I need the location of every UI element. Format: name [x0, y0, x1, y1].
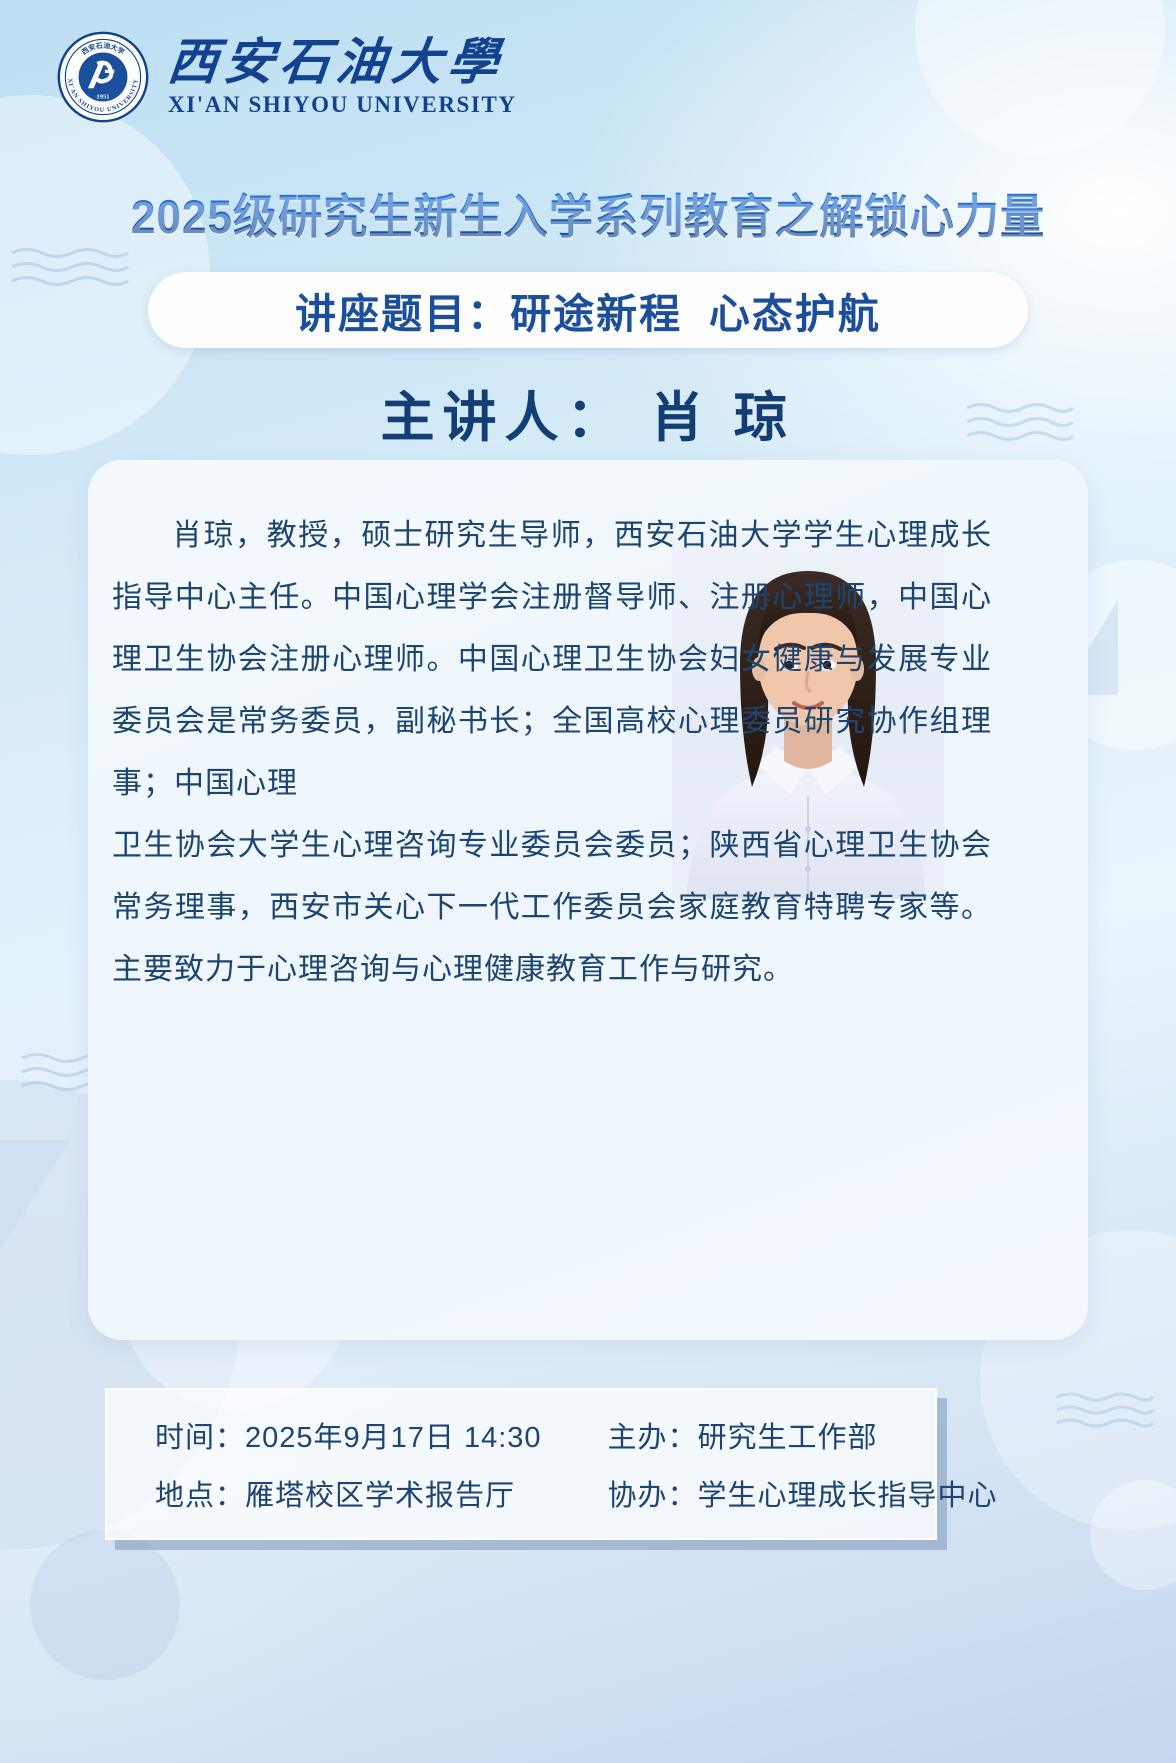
university-name-cn: 西安石油大學 — [165, 36, 519, 89]
poster-root: 1951 西安石油大学 XI'AN SHIYOU UNIVERSITY 西安石油… — [0, 0, 1176, 1763]
page-title: 2025级研究生新生入学系列教育之解锁心力量 — [35, 178, 1140, 247]
university-seal-icon: 1951 西安石油大学 XI'AN SHIYOU UNIVERSITY — [56, 30, 150, 124]
speaker-bio: 肖琼，教授，硕士研究生导师，西安石油大学学生心理成长指导中心主任。中国心理学会注… — [112, 505, 992, 1001]
svg-text:1951: 1951 — [96, 94, 109, 101]
event-details-box: 时间：2025年9月17日 14:30 地点：雁塔校区学术报告厅 主办：研究生工… — [105, 1388, 937, 1540]
wave-lines-icon — [1055, 1390, 1155, 1430]
event-cohost: 协办：学生心理成长指导中心 — [608, 1472, 998, 1514]
bio-paragraph-1: 肖琼，教授，硕士研究生导师，西安石油大学学生心理成长指导中心主任。中国心理学会注… — [112, 505, 992, 815]
lecture-title-text: 讲座题目：研途新程 心态护航 — [295, 280, 881, 340]
decorative-circle-8 — [1090, 1480, 1176, 1590]
speaker-name: 主讲人： 肖 琼 — [0, 373, 1176, 452]
event-time: 时间：2025年9月17日 14:30 — [155, 1414, 542, 1456]
decorative-circle-2 — [915, 0, 1165, 155]
event-host: 主办：研究生工作部 — [608, 1414, 998, 1456]
event-details-left: 时间：2025年9月17日 14:30 地点：雁塔校区学术报告厅 — [107, 1414, 542, 1514]
decorative-circle-7 — [30, 1530, 180, 1680]
university-name-en: XI'AN SHIYOU UNIVERSITY — [168, 92, 517, 118]
bio-paragraph-2: 卫生协会大学生心理咨询专业委员会委员；陕西省心理卫生协会常务理事，西安市关心下一… — [112, 815, 992, 1001]
wave-lines-icon — [10, 245, 130, 291]
university-logo: 1951 西安石油大学 XI'AN SHIYOU UNIVERSITY 西安石油… — [56, 30, 517, 124]
event-place: 地点：雁塔校区学术报告厅 — [155, 1472, 542, 1514]
lecture-title-banner: 讲座题目：研途新程 心态护航 — [148, 272, 1028, 348]
event-details-right: 主办：研究生工作部 协办：学生心理成长指导中心 — [552, 1414, 998, 1514]
decorative-wedge-left — [0, 1140, 70, 1250]
